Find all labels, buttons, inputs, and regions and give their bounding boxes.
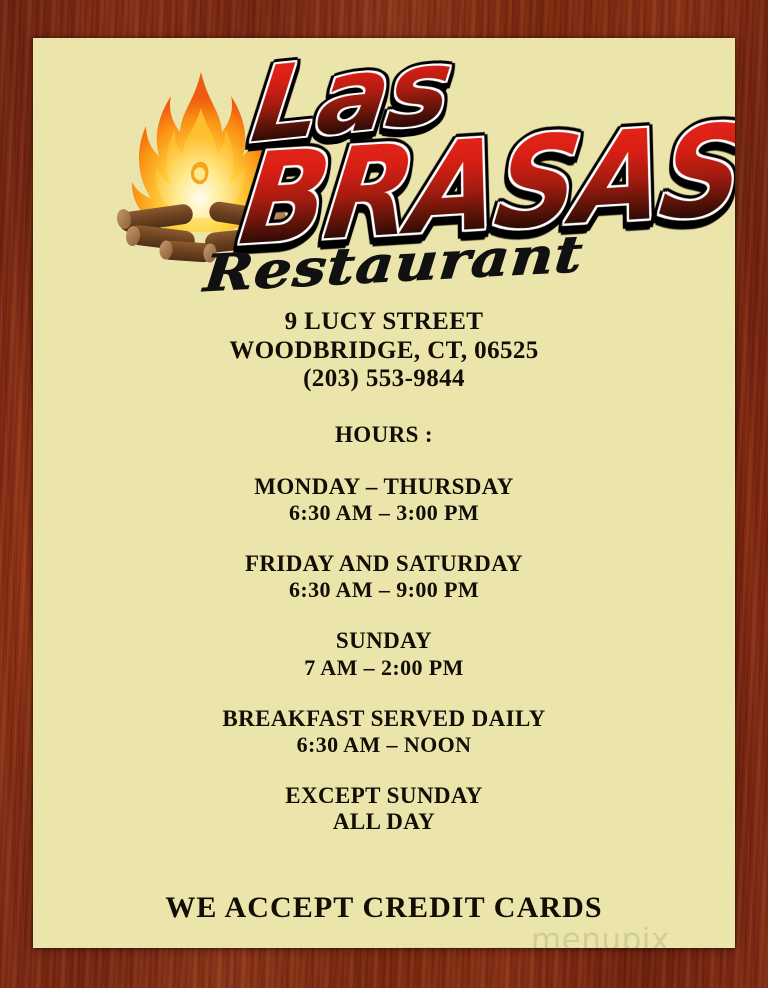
address-street: 9 LUCY STREET [33,308,735,337]
restaurant-flyer: Las BRASAS Restaurant 9 LUCY STREET WOOD… [0,0,768,988]
hours-block: MONDAY – THURSDAY 6:30 AM – 3:00 PM [33,474,735,525]
hours-time: ALL DAY [33,809,735,835]
hours-time: 6:30 AM – 3:00 PM [33,500,735,525]
phone-number: (203) 553-9844 [33,365,735,394]
hours-time: 6:30 AM – 9:00 PM [33,577,735,602]
address-city-state-zip: WOODBRIDGE, CT, 06525 [33,337,735,366]
logo-block: Las BRASAS Restaurant [33,38,735,306]
hours-days: MONDAY – THURSDAY [33,474,735,500]
hours-block: EXCEPT SUNDAY ALL DAY [33,783,735,835]
credit-card-logos: VISA MasterCard DISCOVER NETWORK AMERICA… [33,944,735,948]
hours-block: BREAKFAST SERVED DAILY 6:30 AM – NOON [33,706,735,757]
hours-block: FRIDAY AND SATURDAY 6:30 AM – 9:00 PM [33,551,735,602]
menu-panel: Las BRASAS Restaurant 9 LUCY STREET WOOD… [33,38,735,948]
hours-days: FRIDAY AND SATURDAY [33,551,735,577]
hours-time: 7 AM – 2:00 PM [33,655,735,680]
credit-cards-heading: WE ACCEPT CREDIT CARDS [33,891,735,925]
hours-block: SUNDAY 7 AM – 2:00 PM [33,628,735,679]
hours-days: SUNDAY [33,628,735,654]
hours-days: EXCEPT SUNDAY [33,783,735,809]
hours-label: HOURS : [33,422,735,448]
hours-time: 6:30 AM – NOON [33,732,735,757]
wordmark: Las BRASAS Restaurant [219,38,735,306]
hours-days: BREAKFAST SERVED DAILY [33,706,735,732]
info-section: 9 LUCY STREET WOODBRIDGE, CT, 06525 (203… [33,308,735,948]
